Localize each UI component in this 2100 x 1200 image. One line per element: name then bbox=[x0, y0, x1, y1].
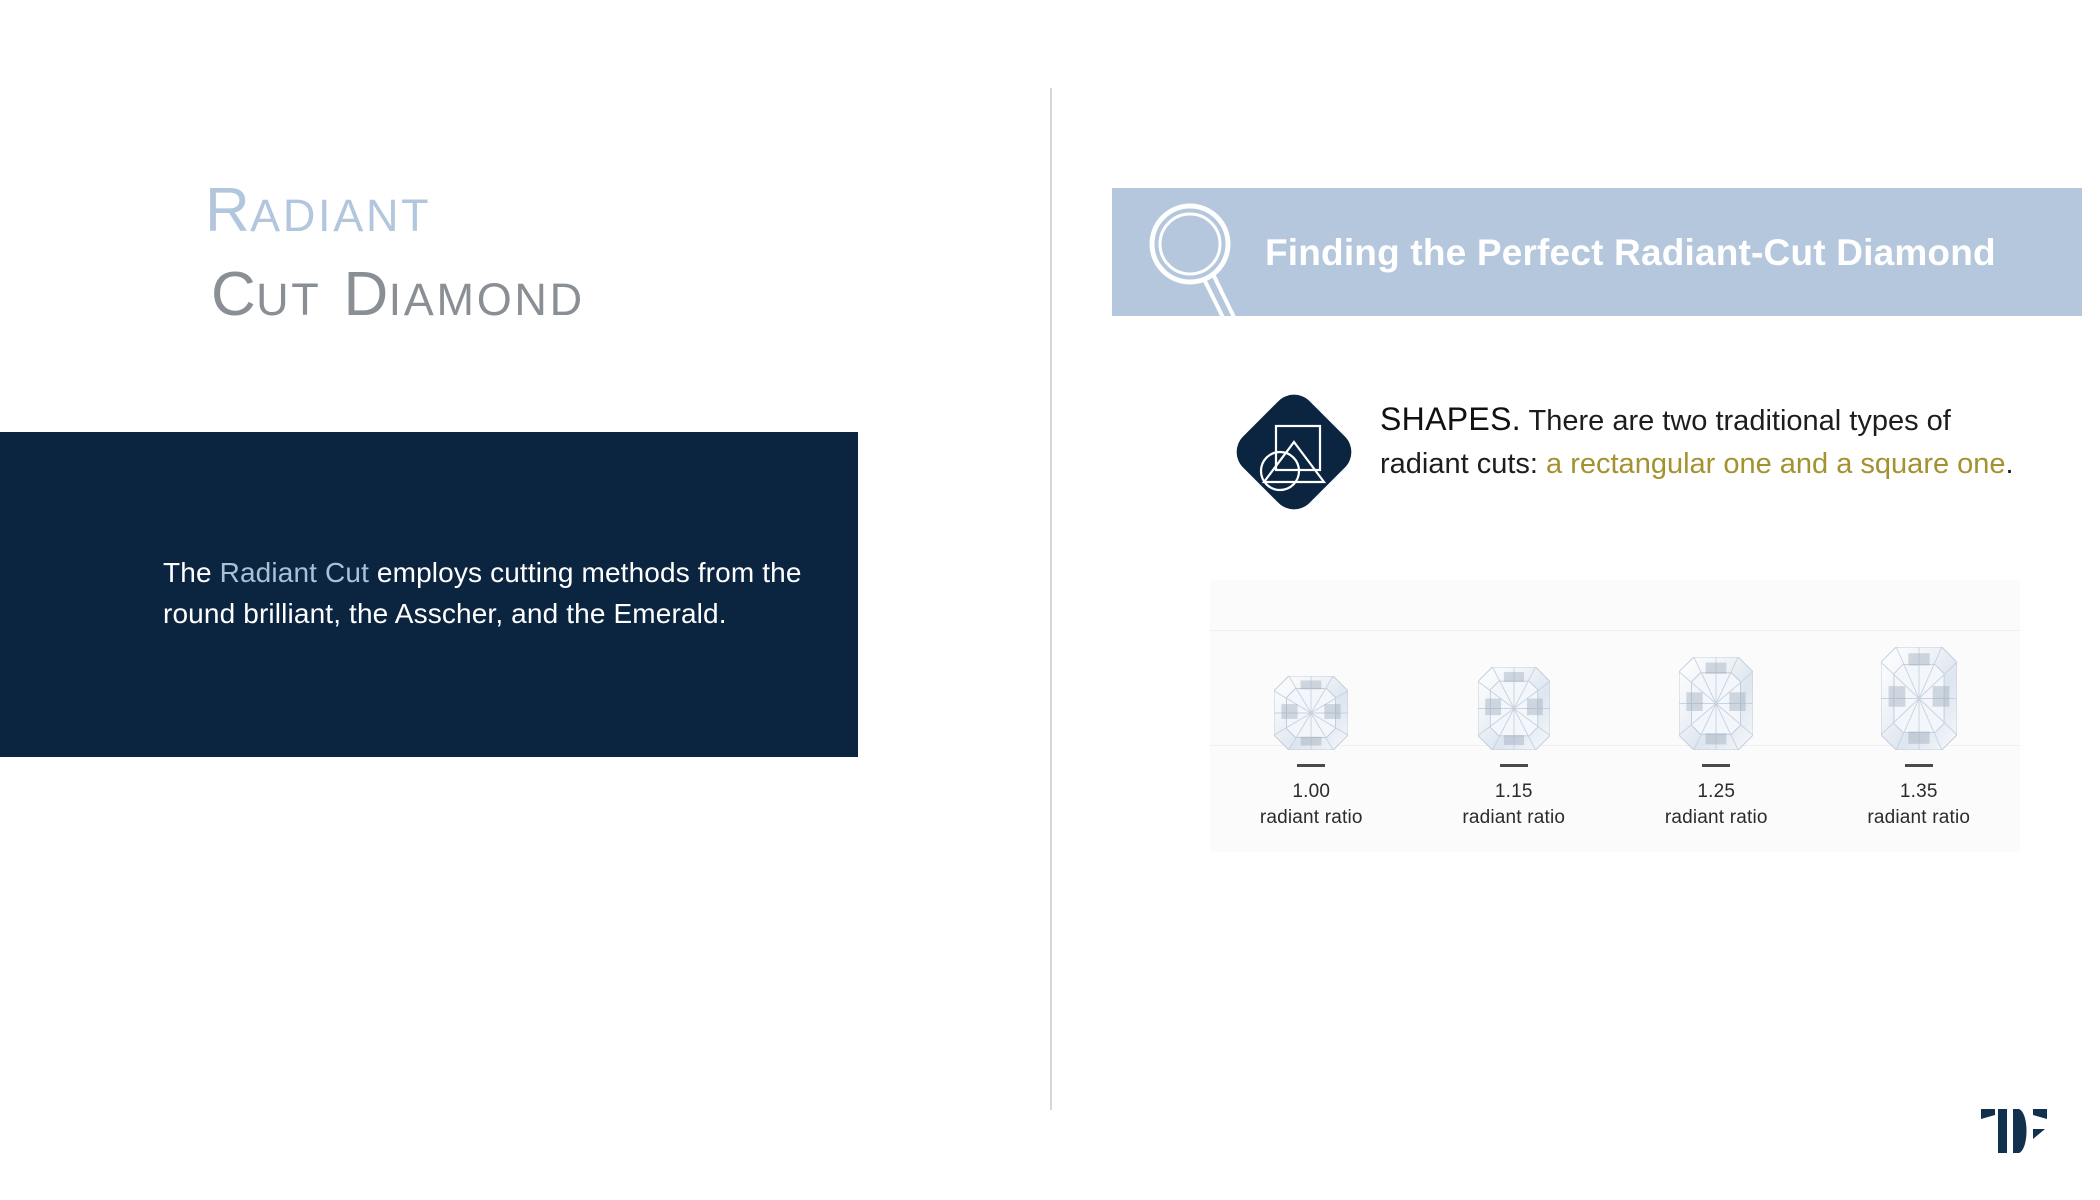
navy-text-highlight: Radiant Cut bbox=[220, 557, 369, 588]
ratio-dash bbox=[1702, 764, 1730, 767]
ratio-value: 1.25 bbox=[1697, 781, 1735, 803]
ratio-value: 1.15 bbox=[1495, 781, 1533, 803]
radiant-ratio-card: 1.00radiant ratio1.15radiant ratio1.25ra… bbox=[1210, 580, 2020, 852]
ratio-caption: radiant ratio bbox=[1260, 807, 1363, 829]
ratio-caption: radiant ratio bbox=[1462, 807, 1565, 829]
shapes-body-highlight: a rectangular one and a square one bbox=[1546, 448, 2006, 480]
ratio-item: 1.35radiant ratio bbox=[1829, 580, 2009, 829]
ratio-caption: radiant ratio bbox=[1867, 807, 1970, 829]
ratio-caption: radiant ratio bbox=[1665, 807, 1768, 829]
ratio-item: 1.15radiant ratio bbox=[1424, 580, 1604, 829]
navy-text-before: The bbox=[163, 557, 220, 588]
ratio-dash bbox=[1297, 764, 1325, 767]
shapes-callout-text: SHAPES. There are two traditional types … bbox=[1380, 396, 2020, 486]
ratio-item: 1.00radiant ratio bbox=[1221, 580, 1401, 829]
title-cap-r: R bbox=[205, 176, 250, 245]
title-line-radiant: RADIANT bbox=[205, 180, 905, 242]
ratio-dash bbox=[1500, 764, 1528, 767]
diamond-gem-wrapper bbox=[1881, 580, 1957, 750]
diamond-gem-icon bbox=[1274, 676, 1348, 750]
diamond-gem-wrapper bbox=[1274, 580, 1348, 750]
diamond-gem-wrapper bbox=[1478, 580, 1550, 750]
title-cap-d: D bbox=[344, 260, 389, 329]
title-rest-ut: UT bbox=[256, 274, 321, 325]
slide-root: RADIANT CUTDIAMOND The Radiant Cut emplo… bbox=[0, 0, 2100, 1200]
title-line-cut-diamond: CUTDIAMOND bbox=[211, 264, 905, 326]
shapes-icon bbox=[1232, 390, 1356, 514]
diamond-gem-icon bbox=[1679, 657, 1753, 750]
shapes-body-after: . bbox=[2006, 448, 2014, 480]
shapes-lead-label: SHAPES. bbox=[1380, 401, 1521, 437]
banner-title: Finding the Perfect Radiant-Cut Diamond bbox=[1265, 232, 1996, 274]
ratio-value: 1.35 bbox=[1900, 781, 1938, 803]
diamond-gem-icon bbox=[1881, 647, 1957, 750]
title-rest-iamond: IAMOND bbox=[389, 274, 585, 325]
ratio-item: 1.25radiant ratio bbox=[1626, 580, 1806, 829]
title-rest-adiant: ADIANT bbox=[250, 190, 431, 241]
diamond-gem-wrapper bbox=[1679, 580, 1753, 750]
column-divider bbox=[1050, 88, 1052, 1110]
title-cap-c: C bbox=[211, 260, 256, 329]
brand-monogram-logo bbox=[1975, 1105, 2055, 1157]
ratio-value: 1.00 bbox=[1292, 781, 1330, 803]
diamond-gem-icon bbox=[1478, 667, 1550, 750]
ratio-dash bbox=[1905, 764, 1933, 767]
ratio-item-list: 1.00radiant ratio1.15radiant ratio1.25ra… bbox=[1210, 580, 2020, 852]
page-title: RADIANT CUTDIAMOND bbox=[205, 180, 905, 326]
navy-callout-text: The Radiant Cut employs cutting methods … bbox=[163, 553, 823, 634]
